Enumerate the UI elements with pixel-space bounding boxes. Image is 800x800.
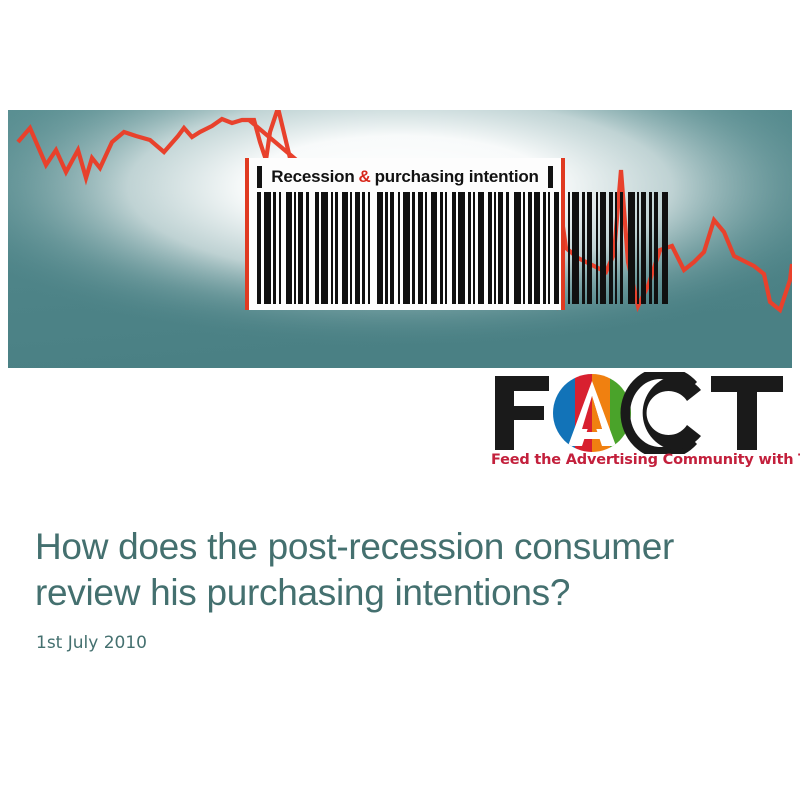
a-crossbar-negative [575, 432, 609, 439]
barcode-stripe [264, 192, 271, 304]
fact-logo-tagline: Feed the Advertising Community with Tren… [491, 452, 800, 468]
barcode-title-prefix: Recession [271, 167, 354, 187]
barcode-title: Recession & purchasing intention [249, 164, 561, 190]
recession-banner: Recession & purchasing intention [8, 110, 792, 368]
barcode-field: Recession & purchasing intention [249, 158, 561, 310]
barcode-rail-right [561, 158, 565, 310]
logo-letter-t [711, 376, 783, 450]
slide-canvas: Recession & purchasing intention [0, 0, 800, 800]
barcode-title-cap-right [548, 166, 553, 188]
barcode-bars [257, 192, 553, 304]
logo-letter-f [495, 376, 549, 450]
barcode-title-suffix: purchasing intention [375, 167, 539, 187]
barcode-stripe [628, 192, 635, 304]
barcode-graphic: Recession & purchasing intention [245, 158, 565, 310]
fact-wordmark [489, 372, 789, 454]
barcode-title-cap-left [257, 166, 262, 188]
fact-logo: Feed the Advertising Community with Tren… [489, 372, 789, 476]
barcode-title-ampersand: & [355, 167, 375, 187]
barcode-space [370, 192, 377, 304]
logo-letter-a-mark [553, 374, 632, 452]
page-title: How does the post-recession consumer rev… [35, 524, 765, 616]
barcode-rail-left [245, 158, 249, 310]
barcode-stripe [662, 192, 668, 304]
barcode-stripe [403, 192, 410, 304]
title-block: How does the post-recession consumer rev… [35, 524, 765, 654]
logo-letter-c [620, 372, 701, 454]
barcode-stripe [572, 192, 579, 304]
slide-date: 1st July 2010 [36, 632, 765, 654]
barcode-stripe [321, 192, 328, 304]
barcode-stripe [514, 192, 521, 304]
barcode-stripe [458, 192, 465, 304]
